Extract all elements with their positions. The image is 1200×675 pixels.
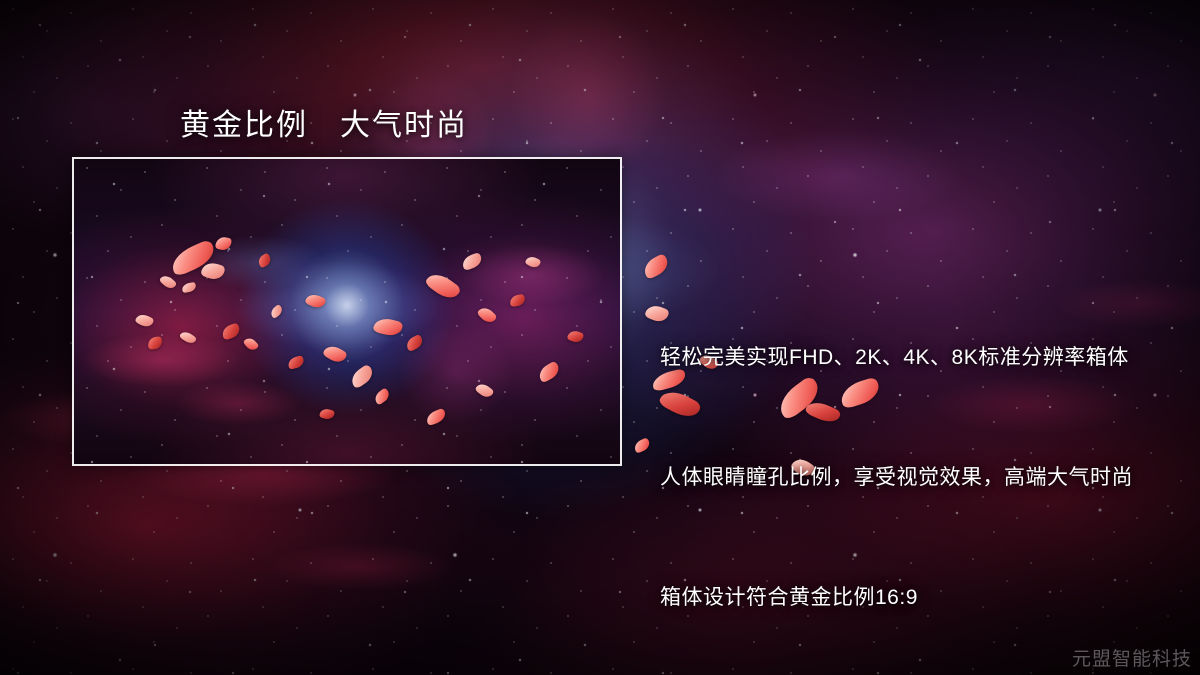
petal	[632, 437, 651, 454]
framed-nebula-wisps	[74, 159, 620, 464]
body-line-1: 轻松完美实现FHD、2K、4K、8K标准分辨率箱体	[660, 338, 1180, 378]
watermark: 元盟智能科技	[1072, 644, 1192, 671]
framed-image	[72, 157, 622, 466]
framed-image-content	[74, 159, 620, 464]
body-line-2: 人体眼睛瞳孔比例，享受视觉效果，高端大气时尚	[660, 458, 1180, 498]
slide-canvas: 黄金比例 大气时尚	[0, 0, 1200, 675]
body-line-3: 箱体设计符合黄金比例16:9	[660, 578, 1180, 618]
body-copy: 轻松完美实现FHD、2K、4K、8K标准分辨率箱体 人体眼睛瞳孔比例，享受视觉效…	[660, 258, 1180, 675]
page-title: 黄金比例 大气时尚	[180, 100, 468, 144]
